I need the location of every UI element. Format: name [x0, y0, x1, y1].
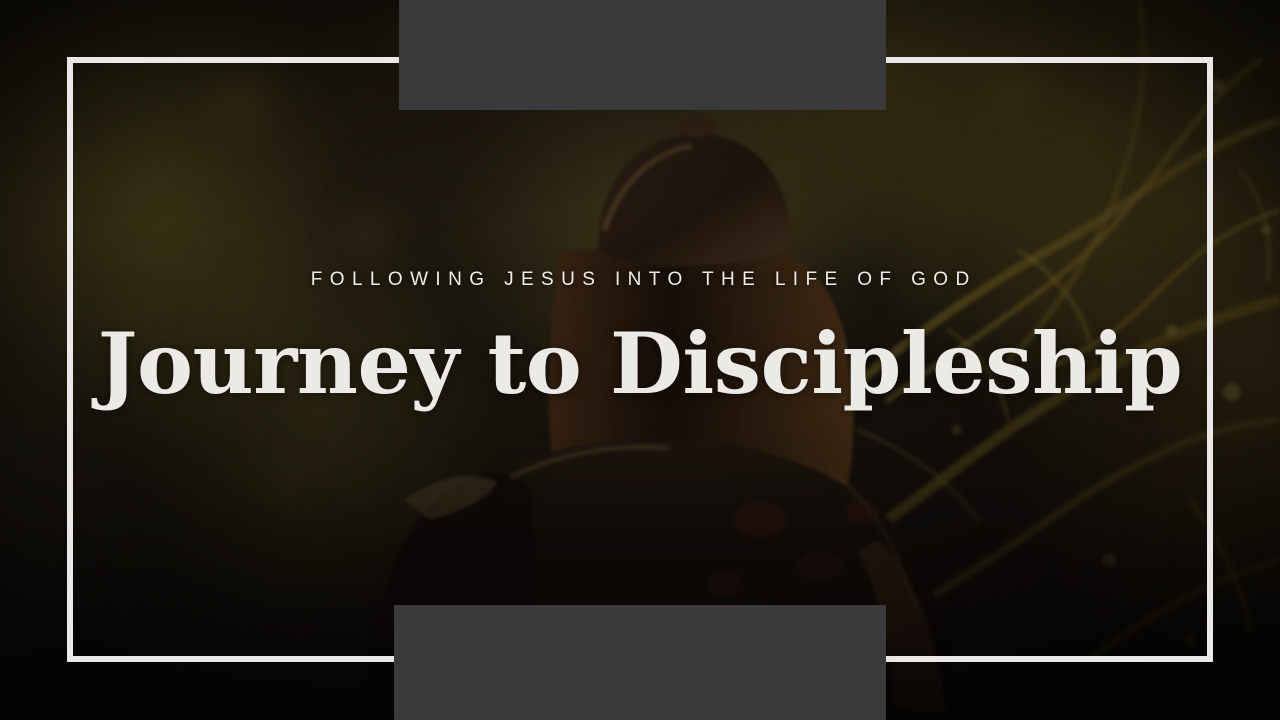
bottom-chrome-overlay: [394, 605, 886, 720]
slide-eyebrow-text: FOLLOWING JESUS INTO THE LIFE OF GOD: [0, 266, 1280, 294]
title-block: FOLLOWING JESUS INTO THE LIFE OF GOD Jou…: [0, 266, 1280, 412]
slide-title: Journey to Discipleship: [0, 316, 1280, 412]
presentation-slide: FOLLOWING JESUS INTO THE LIFE OF GOD Jou…: [0, 0, 1280, 720]
top-chrome-overlay: [399, 0, 886, 110]
